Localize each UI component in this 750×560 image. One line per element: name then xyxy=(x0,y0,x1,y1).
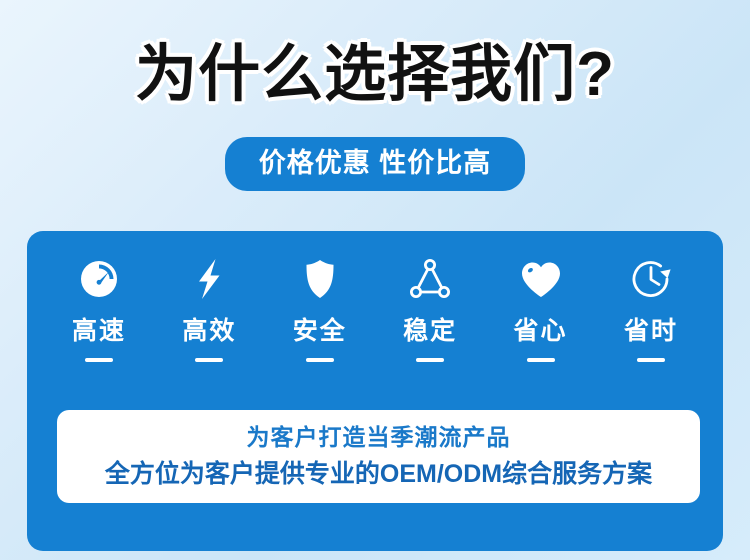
feature-label: 高效 xyxy=(182,319,236,344)
feature-label: 安全 xyxy=(293,319,347,344)
clock-arrow-icon xyxy=(625,253,677,305)
features-card: 高速 高效 安全 xyxy=(27,231,723,551)
heart-icon xyxy=(515,253,567,305)
feature-list: 高速 高效 安全 xyxy=(27,253,723,403)
subtitle-pill-container: 价格优惠 性价比高 xyxy=(0,137,750,191)
feature-item-security: 安全 xyxy=(270,253,370,362)
lightning-bolt-icon xyxy=(183,253,235,305)
subtitle-badge: 价格优惠 性价比高 xyxy=(225,137,526,191)
network-triangle-icon xyxy=(404,253,456,305)
headline-container: 为什么选择我们? xyxy=(0,44,750,106)
page-title: 为什么选择我们? xyxy=(135,44,615,106)
feature-item-speed: 高速 xyxy=(49,253,149,362)
feature-item-stability: 稳定 xyxy=(380,253,480,362)
feature-underline xyxy=(306,358,334,362)
feature-underline xyxy=(85,358,113,362)
feature-underline xyxy=(637,358,665,362)
service-statement-card: 为客户打造当季潮流产品 全方位为客户提供专业的OEM/ODM综合服务方案 xyxy=(57,410,700,503)
feature-underline xyxy=(527,358,555,362)
feature-underline xyxy=(195,358,223,362)
shield-icon xyxy=(294,253,346,305)
feature-item-efficiency: 高效 xyxy=(159,253,259,362)
feature-label: 省时 xyxy=(624,319,678,344)
feature-underline xyxy=(416,358,444,362)
service-statement-line-2: 全方位为客户提供专业的OEM/ODM综合服务方案 xyxy=(105,462,652,487)
promo-banner: 为什么选择我们? 价格优惠 性价比高 高速 xyxy=(0,0,750,560)
feature-label: 高速 xyxy=(72,319,126,344)
feature-item-peace-of-mind: 省心 xyxy=(491,253,591,362)
feature-item-time-saving: 省时 xyxy=(601,253,701,362)
speedometer-icon xyxy=(73,253,125,305)
feature-label: 稳定 xyxy=(403,319,457,344)
feature-label: 省心 xyxy=(514,319,568,344)
service-statement-line-1: 为客户打造当季潮流产品 xyxy=(247,426,511,449)
